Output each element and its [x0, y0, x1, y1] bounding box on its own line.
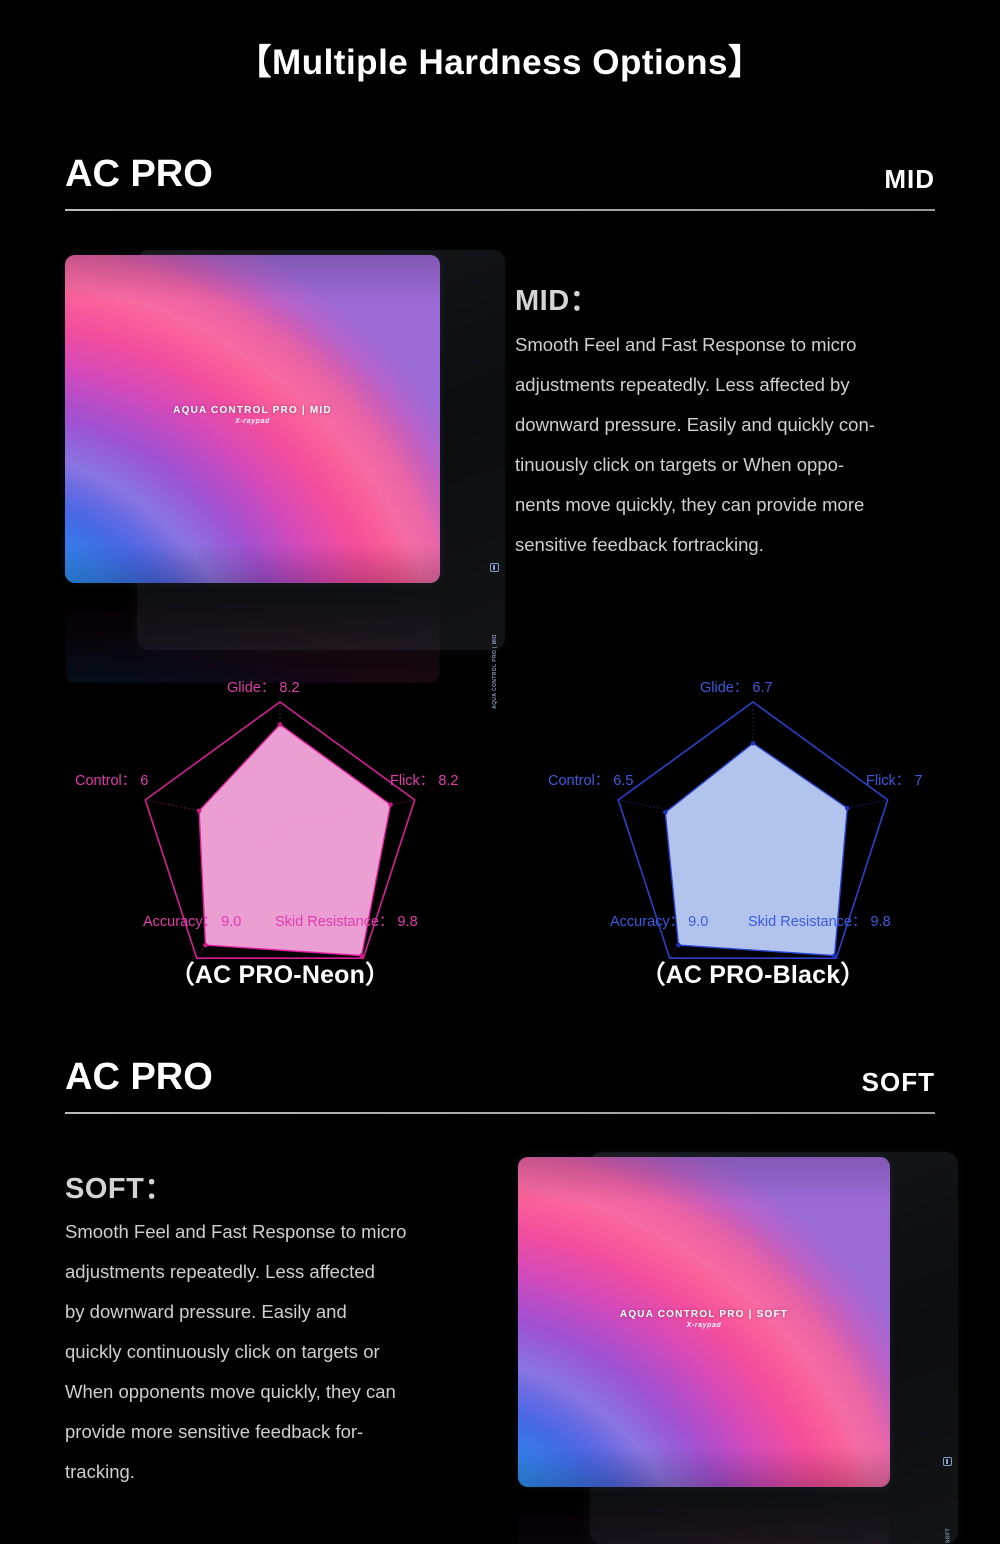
- mousepad-logo-line1-mid: AQUA CONTROL PRO | MID: [65, 405, 440, 416]
- radar-data-polygon-neon: [199, 725, 390, 956]
- xraypad-logo-icon: [943, 1457, 952, 1466]
- radar-data-polygon-black: [665, 743, 847, 955]
- product-infographic-page: 【Multiple Hardness Options】 AC PRO MID A…: [0, 0, 1000, 1544]
- mousepad-neon-soft: AQUA CONTROL PRO | SOFT X-raypad: [518, 1157, 890, 1487]
- copy-body-mid: Smooth Feel and Fast Response to micro a…: [515, 325, 985, 565]
- section-divider-soft: [65, 1112, 935, 1114]
- product-image-mid: AQUA CONTROL PRO | MID AQUA CONTROL PRO …: [65, 250, 505, 665]
- radar-chart-black: Glide： 6.7 Flick： 7 Skid Resistance： 9.8…: [548, 672, 958, 932]
- section-variant-mid: MID: [884, 164, 935, 195]
- copy-title-soft: SOFT：: [65, 1165, 174, 1207]
- page-title: 【Multiple Hardness Options】: [0, 34, 1000, 85]
- section-variant-soft: SOFT: [862, 1067, 935, 1098]
- mousepad-side-text-soft: AQUA CONTROL PRO | SOFT: [945, 1528, 951, 1544]
- copy-title-mid: MID：: [515, 277, 599, 319]
- mousepad-logo-line1-soft: AQUA CONTROL PRO | SOFT: [518, 1309, 890, 1320]
- section-brand-soft: AC PRO: [65, 1058, 213, 1096]
- product-image-soft: AQUA CONTROL PRO | SOFT AQUA CONTROL PRO…: [518, 1152, 958, 1544]
- mousepad-logo-mid: AQUA CONTROL PRO | MID X-raypad: [65, 405, 440, 425]
- xraypad-logo-icon: [490, 563, 499, 572]
- mousepad-side-text-mid: AQUA CONTROL PRO | MID: [492, 634, 498, 709]
- mousepad-logo-line2-soft: X-raypad: [518, 1322, 890, 1329]
- radar-chart-neon: Glide： 8.2 Flick： 8.2 Skid Resistance： 9…: [75, 672, 485, 932]
- radar-svg-black: [548, 672, 958, 932]
- radar-caption-neon: （AC PRO-Neon）: [75, 955, 485, 991]
- section-brand-mid: AC PRO: [65, 155, 213, 193]
- mousepad-neon-mid: AQUA CONTROL PRO | MID X-raypad: [65, 255, 440, 583]
- radar-svg-neon: [75, 672, 485, 932]
- mousepad-reflection-mid: [65, 588, 440, 683]
- mousepad-logo-soft: AQUA CONTROL PRO | SOFT X-raypad: [518, 1309, 890, 1329]
- section-divider-mid: [65, 209, 935, 211]
- radar-caption-black: （AC PRO-Black）: [548, 955, 958, 991]
- mousepad-reflection-soft: [518, 1492, 890, 1544]
- copy-body-soft: Smooth Feel and Fast Response to micro a…: [65, 1212, 505, 1492]
- mousepad-logo-line2-mid: X-raypad: [65, 418, 440, 425]
